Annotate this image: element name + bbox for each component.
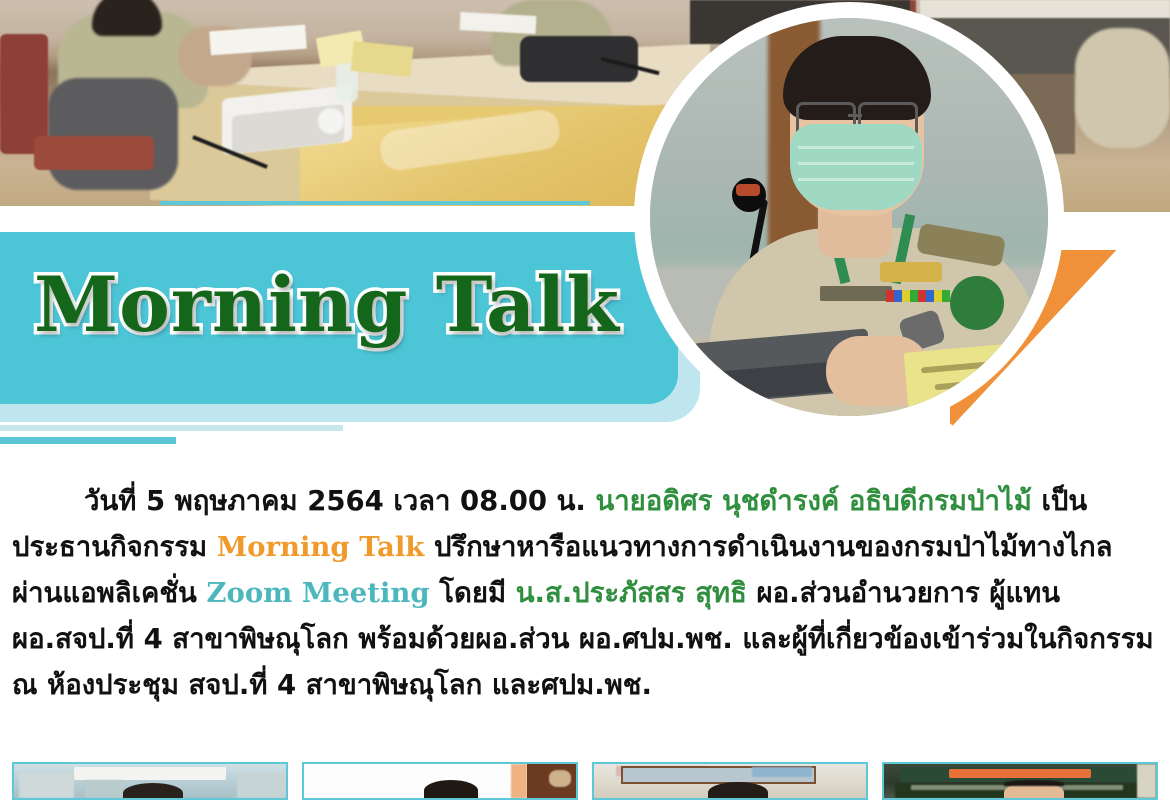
building-sign (74, 767, 226, 779)
white-separator (0, 206, 700, 234)
accent-rule-dark (0, 437, 176, 444)
microphone-ring (736, 184, 760, 196)
photo-accent-rule (160, 201, 590, 205)
thumb-zoom-banner[interactable] (882, 762, 1158, 800)
portrait-photo (650, 18, 1048, 416)
thumbnail-strip (0, 762, 1170, 800)
body-line2-head: กิจกรรม (110, 531, 217, 563)
second-microphone-icon (980, 378, 1020, 416)
thumb-office-building[interactable] (12, 762, 288, 800)
body-morning-talk: Morning Talk (217, 531, 425, 563)
name-placard (904, 339, 1048, 414)
poster-root: Morning Talk (0, 0, 1170, 800)
body-line5: สาขาพิษณุโลก และศปม.พช. (306, 669, 652, 701)
name-tag (820, 286, 892, 301)
body-line1-name: นายอดิศร นุชดำรงค์ อธิบดีกรมป่าไม้ (595, 485, 1031, 517)
eyeglasses-bridge (848, 114, 862, 117)
accent-rule-light (0, 425, 343, 431)
person-head (123, 783, 183, 800)
body-line3-name: น.ส.ประภัสสร สุทธิ (516, 577, 747, 609)
face-mask-icon (790, 124, 922, 210)
shoulder-badge-icon (950, 276, 1004, 330)
page-title: Morning Talk (34, 264, 620, 346)
thumb-participant-2[interactable] (592, 762, 868, 800)
service-ribbons (886, 290, 950, 302)
body-line3-head: โดยมี (430, 577, 516, 609)
body-zoom-meeting: Zoom Meeting (206, 577, 429, 609)
thumb-participant-1[interactable] (302, 762, 578, 800)
body-line1-date: วันที่ 5 พฤษภาคม 2564 เวลา 08.00 น. (84, 485, 595, 517)
body-text: วันที่ 5 พฤษภาคม 2564 เวลา 08.00 น. นายอ… (12, 478, 1158, 708)
wing-insignia-icon (880, 262, 942, 282)
banner-title-text (949, 769, 1090, 778)
